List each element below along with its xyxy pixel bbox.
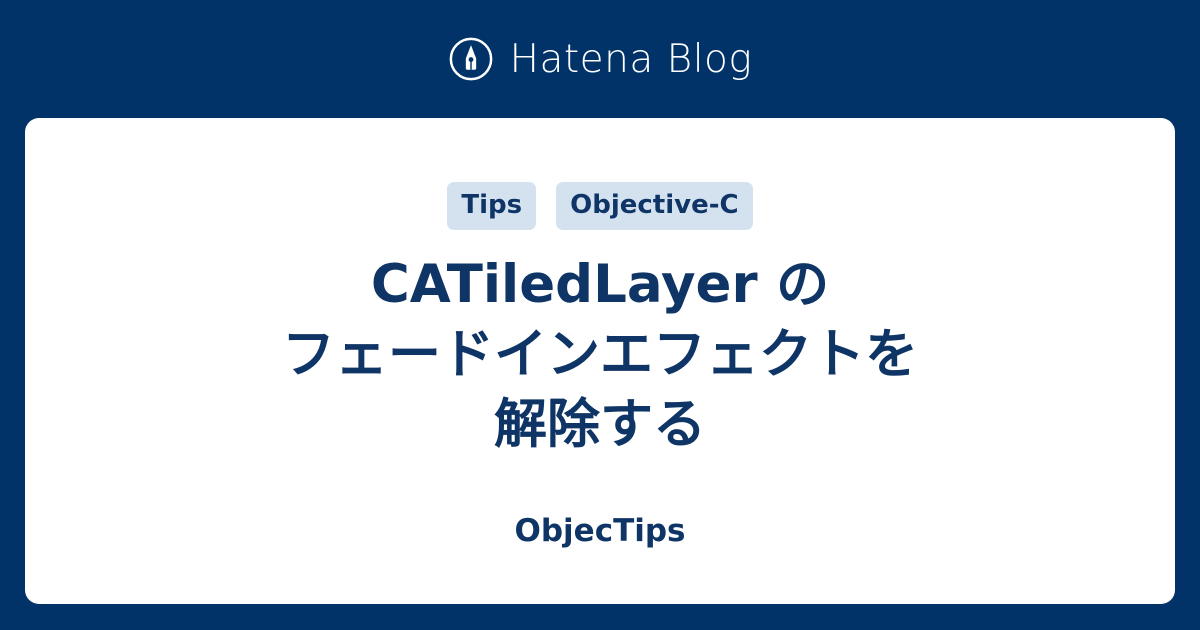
hatena-blog-og-card: Hatena Blog Tips Objective-C CATiledLaye… (0, 0, 1200, 630)
entry-title: CATiledLayer の フェードインエフェクトを 解除する (100, 250, 1100, 460)
entry-card: Tips Objective-C CATiledLayer の フェードインエフ… (25, 118, 1175, 604)
tag-chip-tips[interactable]: Tips (447, 182, 536, 230)
entry-title-line-1: CATiledLayer の (371, 254, 829, 315)
brand-header: Hatena Blog (0, 0, 1200, 118)
blog-name: ObjecTips (25, 516, 1175, 547)
tag-chip-objective-c[interactable]: Objective-C (556, 182, 752, 230)
entry-title-line-2: フェードインエフェクトを (282, 324, 918, 385)
entry-title-line-3: 解除する (494, 394, 706, 455)
brand-name: Hatena Blog (510, 40, 753, 79)
hatena-pen-nib-icon (448, 36, 494, 82)
tag-list: Tips Objective-C (447, 182, 752, 230)
